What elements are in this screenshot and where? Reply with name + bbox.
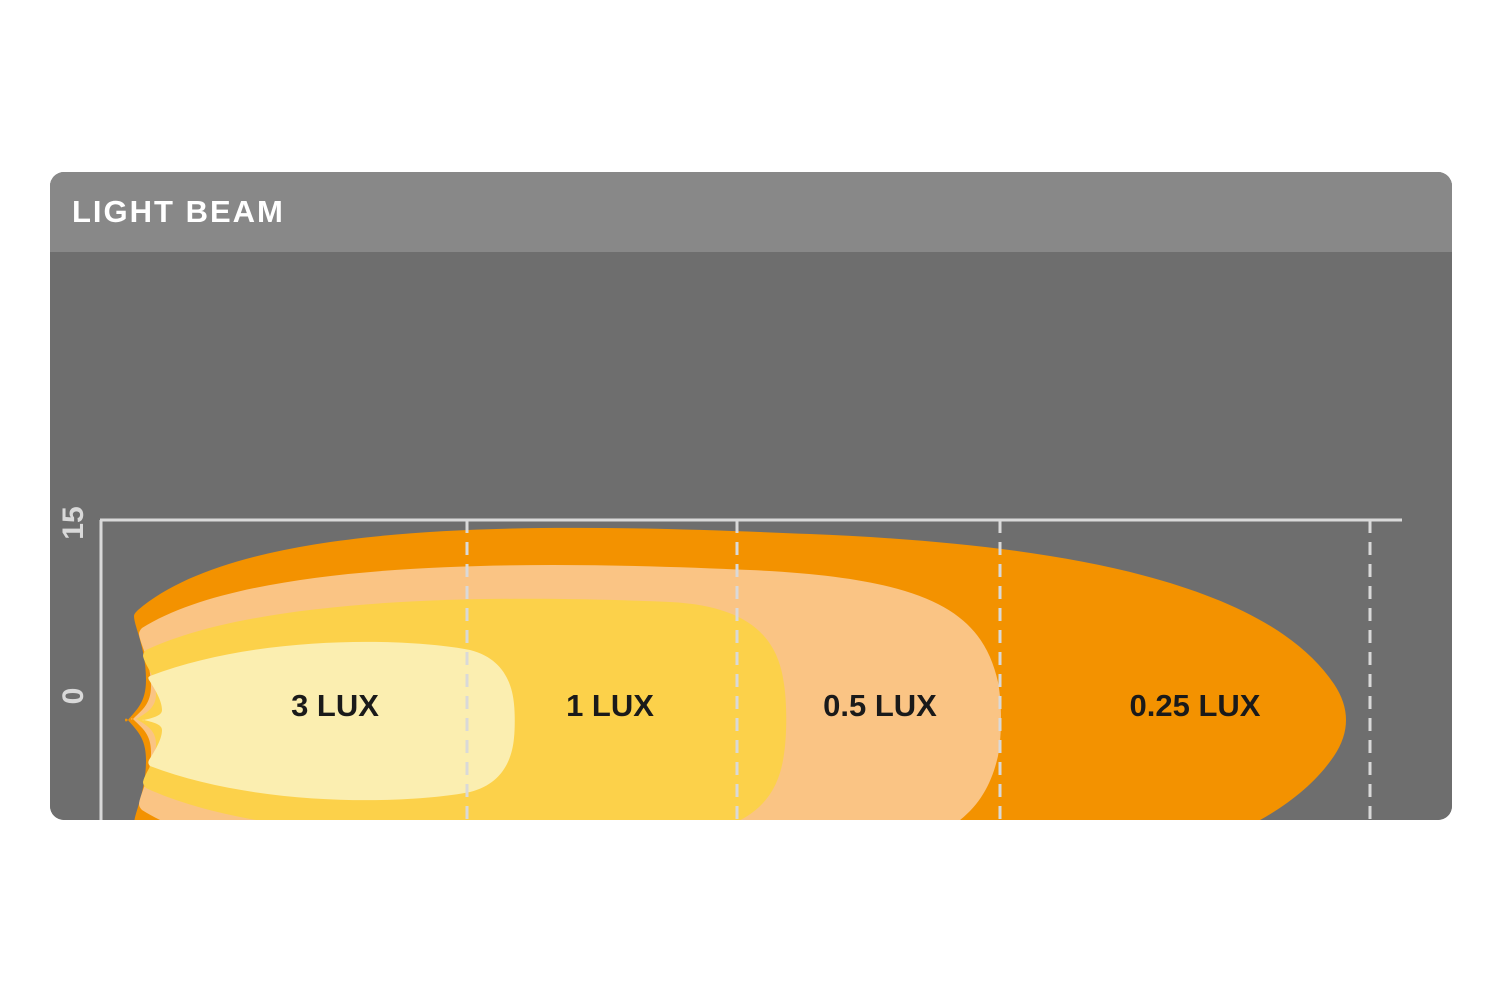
panel-header: LIGHT BEAM	[50, 172, 1452, 252]
beam-chart: 15 0 -15 [m] 25 43 61 86 3 LUX 1 LUX 0.5…	[50, 252, 1452, 820]
screenshot-root: LIGHT BEAM	[0, 0, 1500, 1000]
ytick-label-0: 0	[59, 663, 89, 729]
lux-label-3lux: 3 LUX	[245, 690, 425, 721]
ytick-label-15: 15	[59, 490, 89, 556]
panel-body: 15 0 -15 [m] 25 43 61 86 3 LUX 1 LUX 0.5…	[50, 252, 1452, 820]
page-title: LIGHT BEAM	[72, 194, 285, 230]
lux-label-1lux: 1 LUX	[520, 690, 700, 721]
axes-frame	[50, 252, 1452, 820]
light-beam-panel: LIGHT BEAM	[50, 172, 1452, 820]
lux-label-025lux: 0.25 LUX	[1080, 690, 1310, 721]
lux-label-05lux: 0.5 LUX	[775, 690, 985, 721]
